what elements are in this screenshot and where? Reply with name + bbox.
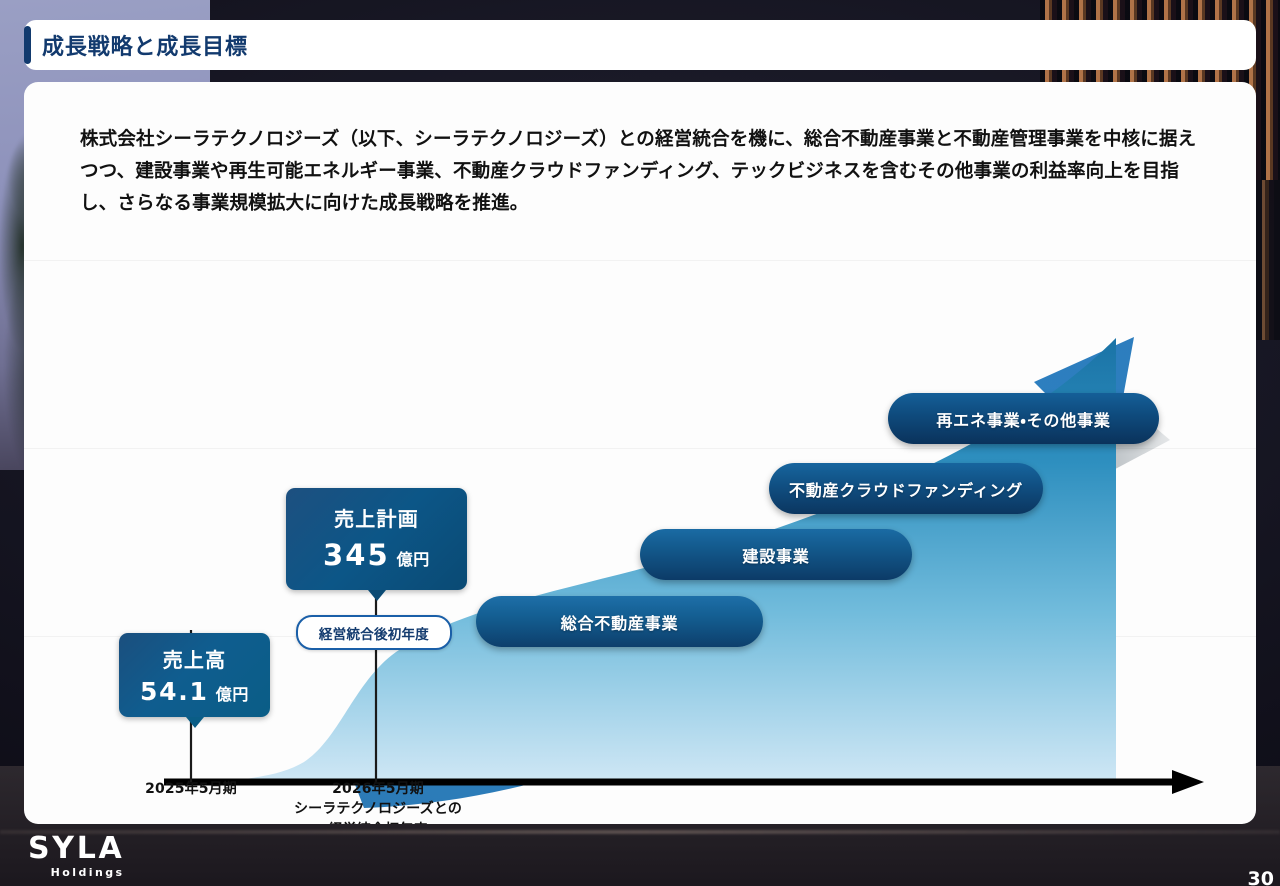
callout-revenue: 売上高 54.1億円 bbox=[119, 633, 270, 717]
axis-tick-label-line: 2026年5月期 bbox=[252, 779, 504, 799]
growth-strategy-chart: 総合不動産事業 建設事業 不動産クラウドファンディング 再エネ事業・その他事業 … bbox=[24, 82, 1256, 824]
logo-wordmark: SYLA bbox=[28, 834, 124, 864]
page-title: 成長戦略と成長目標 bbox=[42, 29, 248, 61]
first-year-pill-label: 経営統合後初年度 bbox=[319, 623, 429, 643]
slide-title-bar: 成長戦略と成長目標 bbox=[24, 20, 1256, 70]
page-number: 30 bbox=[1248, 868, 1274, 886]
callout-revenue-title: 売上高 bbox=[119, 644, 270, 673]
callout-revenue-unit: 億円 bbox=[216, 685, 249, 704]
step-bar-label: 不動産クラウドファンディング bbox=[789, 477, 1023, 501]
step-bar-construction[interactable]: 建設事業 bbox=[640, 529, 912, 580]
step-bar-label: 総合不動産事業 bbox=[561, 610, 679, 634]
callout-plan-value: 345億円 bbox=[286, 538, 467, 572]
step-bar-label: 再エネ事業・その他事業 bbox=[936, 407, 1110, 431]
logo-subtitle: Holdings bbox=[28, 867, 124, 878]
axis-tick-label-line: シーラテクノロジーズとの bbox=[252, 799, 504, 819]
callout-revenue-number: 54.1 bbox=[140, 677, 209, 706]
step-bar-label: 建設事業 bbox=[742, 543, 809, 567]
step-bar-general-real-estate[interactable]: 総合不動産事業 bbox=[476, 596, 763, 647]
callout-plan-number: 345 bbox=[323, 538, 390, 572]
background-floor-highlight bbox=[0, 830, 1280, 834]
first-year-pill: 経営統合後初年度 bbox=[296, 615, 452, 650]
axis-tick-label-2026: 2026年5月期 シーラテクノロジーズとの 経営統合初年度 bbox=[252, 779, 504, 824]
title-accent-bar bbox=[24, 26, 31, 64]
axis-tick-label-line: 経営統合初年度 bbox=[252, 820, 504, 824]
callout-tail bbox=[186, 717, 204, 728]
slide: 成長戦略と成長目標 株式会社シーラテクノロジーズ（以下、シーラテクノロジーズ）と… bbox=[0, 0, 1280, 886]
syla-holdings-logo: SYLA Holdings bbox=[28, 834, 124, 878]
callout-plan-title: 売上計画 bbox=[286, 503, 467, 532]
step-bar-renewable-other[interactable]: 再エネ事業・その他事業 bbox=[888, 393, 1159, 444]
callout-sales-plan: 売上計画 345億円 bbox=[286, 488, 467, 590]
callout-revenue-value: 54.1億円 bbox=[119, 677, 270, 706]
step-bar-crowdfunding[interactable]: 不動産クラウドファンディング bbox=[769, 463, 1043, 514]
content-card: 株式会社シーラテクノロジーズ（以下、シーラテクノロジーズ）との経営統合を機に、総… bbox=[24, 82, 1256, 824]
callout-plan-unit: 億円 bbox=[397, 550, 430, 569]
callout-tail bbox=[368, 590, 386, 601]
